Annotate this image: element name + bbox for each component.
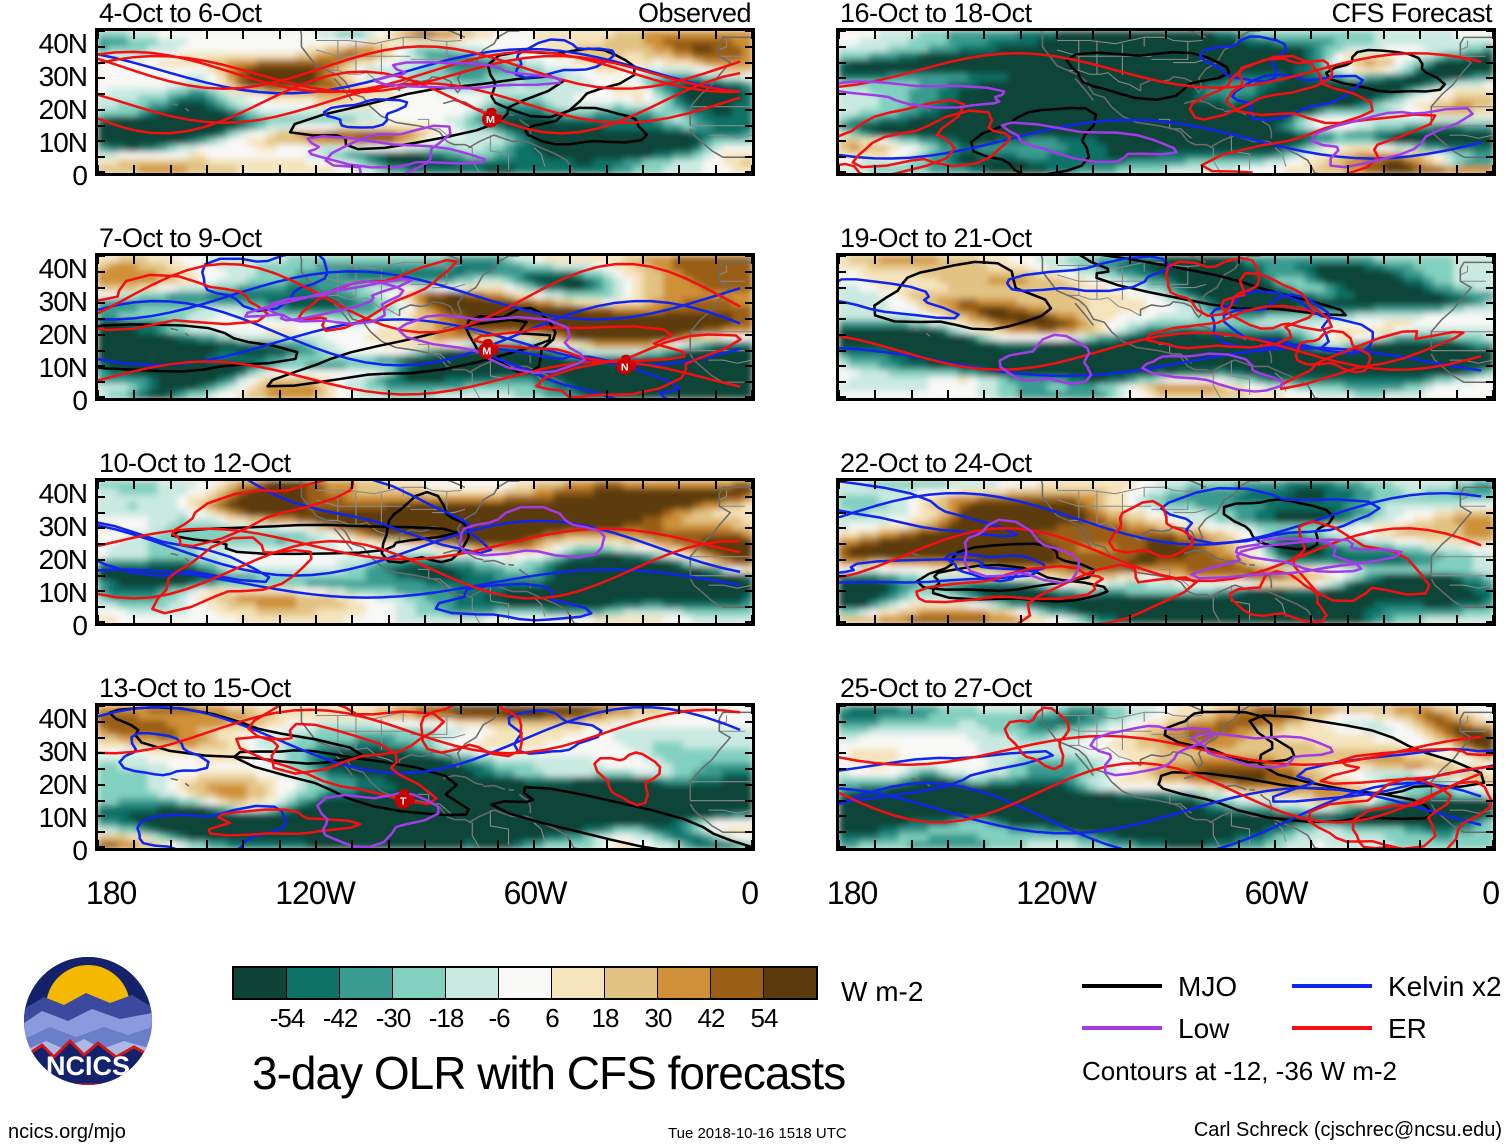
olr-shading: MN	[98, 256, 752, 398]
x-tick	[1310, 390, 1312, 398]
y-tick	[1486, 784, 1493, 786]
x-tick	[424, 840, 426, 848]
x-tick	[1383, 390, 1385, 398]
y-tick	[745, 480, 752, 482]
x-tick	[1383, 840, 1385, 848]
x-tick	[874, 615, 876, 623]
map-plot-area[interactable]	[836, 253, 1496, 401]
y-tick	[745, 800, 752, 802]
x-tick	[715, 840, 717, 848]
y-tick	[839, 271, 846, 273]
x-tick	[1201, 840, 1203, 848]
y-axis-label: 30N	[39, 513, 87, 541]
y-tick	[1486, 721, 1493, 723]
x-tick	[351, 840, 353, 848]
olr-shading: M	[98, 31, 752, 173]
y-tick	[745, 784, 752, 786]
y-tick	[839, 255, 846, 257]
x-tick	[497, 481, 499, 489]
x-tick	[497, 31, 499, 39]
x-axis-label: 0	[1482, 877, 1499, 909]
y-tick	[745, 30, 752, 32]
x-tick	[1201, 256, 1203, 264]
x-tick	[1092, 31, 1094, 39]
y-tick	[1486, 396, 1493, 398]
y-axis-label: 0	[72, 387, 87, 415]
olr-shading	[839, 31, 1493, 173]
column-header-observed: Observed	[638, 0, 751, 27]
x-tick	[1165, 165, 1167, 173]
y-tick	[839, 496, 846, 498]
x-tick	[1274, 840, 1276, 848]
x-tick	[1020, 706, 1022, 714]
y-tick	[98, 480, 105, 482]
x-tick	[1056, 481, 1058, 489]
colorbar-swatch	[393, 968, 446, 998]
y-tick	[1486, 62, 1493, 64]
x-tick	[1419, 390, 1421, 398]
y-tick	[98, 831, 105, 833]
x-axis-label: 120W	[1016, 877, 1096, 909]
x-tick	[569, 840, 571, 848]
x-tick	[751, 31, 753, 39]
x-tick	[315, 481, 317, 489]
x-tick	[1129, 706, 1131, 714]
y-tick	[98, 109, 105, 111]
y-tick	[745, 77, 752, 79]
x-tick	[1456, 390, 1458, 398]
y-tick	[839, 621, 846, 623]
svg-text:M: M	[482, 346, 491, 358]
x-tick	[947, 481, 949, 489]
x-tick	[1274, 481, 1276, 489]
x-tick	[242, 706, 244, 714]
x-tick	[1419, 481, 1421, 489]
y-tick	[1486, 737, 1493, 739]
x-tick	[874, 390, 876, 398]
x-tick	[242, 615, 244, 623]
y-tick	[745, 496, 752, 498]
olr-shading: T	[98, 706, 752, 848]
x-tick	[678, 165, 680, 173]
y-tick	[839, 512, 846, 514]
x-tick	[606, 256, 608, 264]
x-tick	[460, 165, 462, 173]
x-tick	[351, 165, 353, 173]
y-tick	[839, 527, 846, 529]
x-tick	[678, 706, 680, 714]
y-axis-label: 40N	[39, 480, 87, 508]
legend-label: MJO	[1178, 973, 1237, 1001]
x-tick	[983, 390, 985, 398]
x-tick	[533, 256, 535, 264]
x-axis-label: 180	[86, 877, 136, 909]
y-tick	[839, 334, 846, 336]
x-tick	[533, 31, 535, 39]
y-tick	[745, 302, 752, 304]
x-tick	[497, 165, 499, 173]
x-tick	[1201, 706, 1203, 714]
map-plot-area[interactable]: M	[95, 28, 755, 176]
x-tick	[1456, 31, 1458, 39]
x-tick	[97, 256, 99, 264]
colorbar-tick-label: 30	[645, 1005, 672, 1031]
x-tick	[1419, 706, 1421, 714]
y-tick	[745, 721, 752, 723]
ncics-logo: NCICS	[24, 957, 152, 1085]
x-tick	[911, 481, 913, 489]
x-tick	[460, 615, 462, 623]
x-tick	[279, 256, 281, 264]
x-tick	[424, 256, 426, 264]
y-tick	[98, 287, 105, 289]
y-tick	[839, 815, 846, 817]
x-tick	[838, 706, 840, 714]
panel-title: 4-Oct to 6-Oct	[99, 0, 262, 27]
x-tick	[206, 165, 208, 173]
x-tick	[279, 390, 281, 398]
x-tick	[170, 706, 172, 714]
legend-swatch-line	[1082, 984, 1162, 988]
x-tick	[983, 31, 985, 39]
x-tick	[1056, 165, 1058, 173]
x-tick	[1456, 256, 1458, 264]
y-tick	[1486, 46, 1493, 48]
x-tick	[1238, 31, 1240, 39]
x-tick	[388, 390, 390, 398]
y-tick	[839, 831, 846, 833]
x-tick	[1347, 390, 1349, 398]
colorbar-swatch	[446, 968, 499, 998]
x-tick	[279, 615, 281, 623]
y-tick	[1486, 527, 1493, 529]
y-tick	[839, 30, 846, 32]
x-tick	[642, 840, 644, 848]
y-tick	[98, 512, 105, 514]
y-tick	[745, 255, 752, 257]
map-plot-area[interactable]: MN	[95, 253, 755, 401]
y-tick	[839, 140, 846, 142]
y-tick	[745, 381, 752, 383]
x-tick	[1238, 256, 1240, 264]
colorbar-tick-label: -6	[488, 1005, 509, 1031]
x-tick	[1165, 615, 1167, 623]
x-tick	[911, 706, 913, 714]
y-tick	[839, 575, 846, 577]
x-tick	[424, 165, 426, 173]
olr-shading	[98, 481, 752, 623]
x-tick	[1419, 840, 1421, 848]
y-tick	[745, 365, 752, 367]
y-tick	[98, 396, 105, 398]
x-tick	[606, 481, 608, 489]
x-tick	[1129, 615, 1131, 623]
x-tick	[1238, 165, 1240, 173]
x-tick	[351, 706, 353, 714]
x-tick	[569, 165, 571, 173]
x-tick	[1201, 481, 1203, 489]
x-tick	[678, 481, 680, 489]
x-tick	[170, 165, 172, 173]
x-tick	[1274, 390, 1276, 398]
colorbar-swatch	[764, 968, 816, 998]
x-tick	[642, 481, 644, 489]
x-tick	[1274, 31, 1276, 39]
y-tick	[745, 93, 752, 95]
y-tick	[98, 800, 105, 802]
x-tick	[460, 706, 462, 714]
x-tick	[838, 256, 840, 264]
footer-site-link[interactable]: ncics.org/mjo	[8, 1122, 126, 1142]
y-tick	[98, 140, 105, 142]
x-tick	[279, 481, 281, 489]
x-tick	[1092, 706, 1094, 714]
colorbar-tick-label: -54	[270, 1005, 305, 1031]
x-tick	[1092, 390, 1094, 398]
colorbar-swatch	[658, 968, 711, 998]
x-tick	[460, 256, 462, 264]
y-tick	[839, 737, 846, 739]
panel-title: 13-Oct to 15-Oct	[99, 675, 291, 702]
colorbar-swatch	[340, 968, 393, 998]
y-tick	[745, 705, 752, 707]
x-tick	[133, 481, 135, 489]
y-tick	[1486, 140, 1493, 142]
colorbar-tick-label: 6	[545, 1005, 558, 1031]
x-tick	[97, 31, 99, 39]
x-axis-label: 60W	[504, 877, 567, 909]
x-tick	[1383, 706, 1385, 714]
y-tick	[839, 559, 846, 561]
x-tick	[1020, 615, 1022, 623]
x-tick	[1201, 31, 1203, 39]
y-tick	[839, 846, 846, 848]
y-tick	[839, 93, 846, 95]
x-tick	[206, 481, 208, 489]
x-tick	[1092, 481, 1094, 489]
y-tick	[839, 396, 846, 398]
y-tick	[98, 302, 105, 304]
x-tick	[533, 390, 535, 398]
y-tick	[839, 62, 846, 64]
y-tick	[98, 93, 105, 95]
colorbar-tick-label: 18	[592, 1005, 619, 1031]
y-axis-label: 30N	[39, 288, 87, 316]
y-tick	[98, 590, 105, 592]
x-tick	[642, 256, 644, 264]
y-axis-label: 20N	[39, 546, 87, 574]
colorbar-tick-label: -30	[376, 1005, 411, 1031]
y-tick	[98, 171, 105, 173]
x-axis-label: 120W	[275, 877, 355, 909]
x-tick	[460, 481, 462, 489]
x-tick	[533, 481, 535, 489]
y-tick	[839, 381, 846, 383]
svg-text:N: N	[621, 361, 629, 373]
y-tick	[1486, 365, 1493, 367]
y-tick	[839, 109, 846, 111]
y-tick	[98, 318, 105, 320]
y-tick	[839, 606, 846, 608]
x-tick	[1274, 256, 1276, 264]
x-tick	[838, 31, 840, 39]
x-tick	[678, 256, 680, 264]
x-tick	[533, 615, 535, 623]
x-tick	[569, 256, 571, 264]
y-tick	[98, 543, 105, 545]
y-tick	[98, 575, 105, 577]
x-tick	[715, 390, 717, 398]
x-tick	[1165, 31, 1167, 39]
x-tick	[715, 706, 717, 714]
x-tick	[1238, 706, 1240, 714]
y-tick	[839, 721, 846, 723]
y-tick	[839, 77, 846, 79]
x-tick	[388, 31, 390, 39]
x-tick	[1092, 615, 1094, 623]
y-tick	[745, 334, 752, 336]
y-tick	[839, 768, 846, 770]
legend-swatch-line	[1082, 1026, 1162, 1030]
colorbar-swatch	[234, 968, 287, 998]
y-axis-label: 0	[72, 162, 87, 190]
legend-label: Low	[1178, 1015, 1229, 1043]
x-tick	[315, 840, 317, 848]
x-tick	[1129, 256, 1131, 264]
x-tick	[1456, 615, 1458, 623]
x-tick	[947, 390, 949, 398]
map-plot-area[interactable]	[836, 703, 1496, 851]
x-tick	[1165, 706, 1167, 714]
map-plot-area[interactable]	[836, 28, 1496, 176]
y-tick	[1486, 815, 1493, 817]
map-plot-area[interactable]	[836, 478, 1496, 626]
colorbar-swatch	[711, 968, 764, 998]
y-tick	[1486, 156, 1493, 158]
y-tick	[1486, 800, 1493, 802]
y-tick	[745, 140, 752, 142]
x-tick	[1383, 481, 1385, 489]
x-tick	[1238, 390, 1240, 398]
x-tick	[751, 706, 753, 714]
x-tick	[874, 706, 876, 714]
olr-shading	[839, 706, 1493, 848]
y-tick	[1486, 575, 1493, 577]
x-tick	[1238, 481, 1240, 489]
x-tick	[751, 256, 753, 264]
x-tick	[911, 165, 913, 173]
x-tick	[533, 706, 535, 714]
y-tick	[1486, 318, 1493, 320]
x-tick	[569, 615, 571, 623]
x-tick	[569, 31, 571, 39]
x-tick	[1056, 31, 1058, 39]
legend-label: Kelvin x2	[1388, 973, 1502, 1001]
y-tick	[1486, 287, 1493, 289]
y-axis-label: 10N	[39, 354, 87, 382]
x-tick	[279, 840, 281, 848]
x-tick	[388, 706, 390, 714]
colorbar	[232, 966, 818, 1000]
y-tick	[745, 752, 752, 754]
x-tick	[1020, 165, 1022, 173]
panel-title: 10-Oct to 12-Oct	[99, 450, 291, 477]
x-tick	[1347, 165, 1349, 173]
x-tick	[315, 390, 317, 398]
x-tick	[947, 256, 949, 264]
y-tick	[98, 156, 105, 158]
x-tick	[678, 840, 680, 848]
y-tick	[745, 527, 752, 529]
x-tick	[947, 31, 949, 39]
map-plot-area[interactable]: T	[95, 703, 755, 851]
y-tick	[745, 590, 752, 592]
y-tick	[839, 752, 846, 754]
x-tick	[911, 390, 913, 398]
y-tick	[1486, 846, 1493, 848]
x-tick	[206, 256, 208, 264]
x-tick	[983, 840, 985, 848]
colorbar-swatch	[499, 968, 552, 998]
x-tick	[983, 165, 985, 173]
x-tick	[460, 31, 462, 39]
y-tick	[839, 318, 846, 320]
y-tick	[745, 125, 752, 127]
x-tick	[133, 615, 135, 623]
y-tick	[745, 815, 752, 817]
x-tick	[1129, 390, 1131, 398]
colorbar-tick-label: 54	[751, 1005, 778, 1031]
x-tick	[715, 481, 717, 489]
y-tick	[1486, 125, 1493, 127]
y-tick	[745, 559, 752, 561]
y-tick	[98, 255, 105, 257]
x-tick	[1092, 256, 1094, 264]
x-tick	[1310, 31, 1312, 39]
x-tick	[388, 840, 390, 848]
y-tick	[98, 365, 105, 367]
map-plot-area[interactable]	[95, 478, 755, 626]
x-tick	[497, 256, 499, 264]
y-tick	[98, 77, 105, 79]
x-tick	[424, 481, 426, 489]
x-tick	[642, 706, 644, 714]
x-tick	[1201, 165, 1203, 173]
x-tick	[497, 706, 499, 714]
y-tick	[1486, 77, 1493, 79]
colorbar-tick-label: -42	[323, 1005, 358, 1031]
svg-text:M: M	[486, 114, 495, 126]
x-tick	[351, 390, 353, 398]
y-tick	[839, 156, 846, 158]
x-tick	[1492, 31, 1494, 39]
colorbar-tick-label: -18	[429, 1005, 464, 1031]
y-tick	[98, 496, 105, 498]
y-tick	[98, 62, 105, 64]
x-tick	[715, 256, 717, 264]
x-tick	[533, 165, 535, 173]
x-tick	[279, 165, 281, 173]
y-tick	[1486, 93, 1493, 95]
x-axis-label: 60W	[1245, 877, 1308, 909]
x-tick	[874, 31, 876, 39]
x-tick	[1056, 706, 1058, 714]
y-tick	[98, 621, 105, 623]
y-tick	[839, 46, 846, 48]
x-tick	[133, 31, 135, 39]
x-tick	[569, 706, 571, 714]
x-tick	[497, 615, 499, 623]
